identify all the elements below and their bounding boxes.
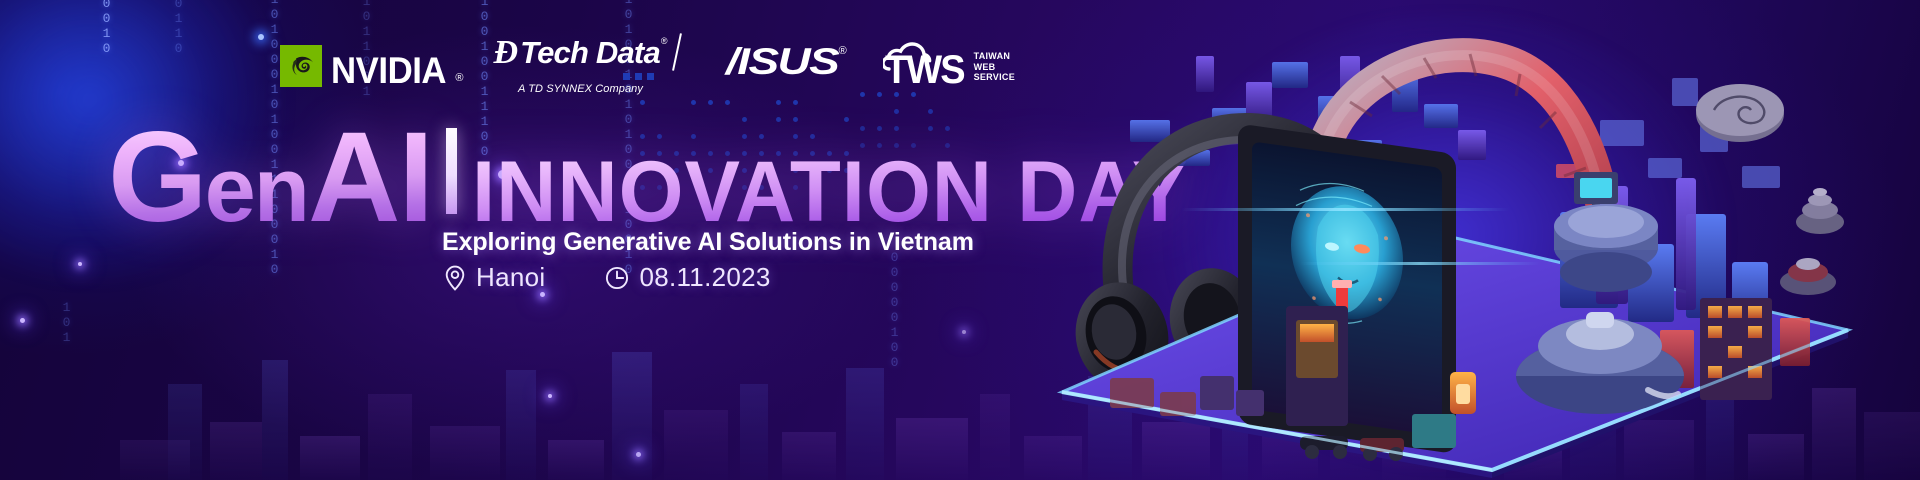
nvidia-eye-icon xyxy=(280,45,322,87)
genai-brand: G en AI xyxy=(108,128,432,228)
event-meta: Hanoi 08.11.2023 xyxy=(444,262,771,293)
event-banner: 0010 1010001010011100010 1001001110001 0… xyxy=(0,0,1920,480)
techdata-d-icon: Ɖ xyxy=(494,36,517,70)
binary-column: 00000100 xyxy=(888,250,900,450)
asus-wordmark: /ISUS xyxy=(726,43,838,80)
techdata-wordmark: Tech Data xyxy=(520,37,660,68)
skyline-building xyxy=(368,394,412,480)
sponsor-logo-asus: /ISUS ® xyxy=(726,43,847,88)
meta-date: 08.11.2023 xyxy=(605,262,770,293)
registered-mark: ® xyxy=(839,45,847,57)
techdata-slash-rule xyxy=(672,33,682,71)
sponsor-logo-strip: NVIDIA® Ɖ Tech Data ® A TD SYNNEX Compan… xyxy=(280,36,1015,94)
glow-dot xyxy=(636,452,641,457)
location-label: Hanoi xyxy=(476,262,545,293)
location-pin-icon xyxy=(444,265,466,291)
skyline-building xyxy=(740,384,768,480)
glow-dot xyxy=(962,330,966,334)
genai-en: en xyxy=(205,155,308,227)
glow-dot xyxy=(548,394,552,398)
skyline-building xyxy=(120,440,190,480)
skyline-building xyxy=(664,410,728,480)
skyline-building xyxy=(210,422,262,480)
ai-isometric-city-illustration xyxy=(1000,0,1920,480)
skyline-building xyxy=(782,432,836,480)
nvidia-wordmark: NVIDIA® xyxy=(331,55,464,87)
glow-dot xyxy=(78,262,82,266)
skyline-building xyxy=(612,352,652,480)
registered-mark: ® xyxy=(455,72,463,84)
glow-dot xyxy=(258,34,264,40)
glow-dot xyxy=(20,318,25,323)
binary-column: 101 xyxy=(60,300,72,430)
skyline-building xyxy=(506,370,536,480)
genai-ai: AI xyxy=(308,128,432,228)
skyline-building xyxy=(300,436,360,480)
vertical-divider-icon xyxy=(446,128,457,214)
sponsor-logo-tech-data: Ɖ Tech Data ® A TD SYNNEX Company xyxy=(494,36,668,95)
subtitle: Exploring Generative AI Solutions in Vie… xyxy=(442,228,974,257)
techdata-tagline: A TD SYNNEX Company xyxy=(518,83,643,95)
skyline-building xyxy=(548,440,604,480)
sponsor-logo-nvidia: NVIDIA® xyxy=(280,43,464,87)
registered-mark: ® xyxy=(661,36,668,46)
date-label: 08.11.2023 xyxy=(639,262,770,293)
skyline-building xyxy=(846,368,884,480)
genai-g: G xyxy=(108,128,205,228)
sponsor-logo-tws: TWS TAIWAN WEB SERVICE xyxy=(885,43,1015,87)
skyline-building xyxy=(168,384,202,480)
techdata-dots xyxy=(623,73,654,80)
meta-location: Hanoi xyxy=(444,262,545,293)
skyline-building xyxy=(262,360,288,480)
clock-icon xyxy=(605,266,629,290)
tws-wordmark: TWS xyxy=(885,53,964,87)
skyline-building xyxy=(430,426,500,480)
skyline-building xyxy=(896,418,968,480)
